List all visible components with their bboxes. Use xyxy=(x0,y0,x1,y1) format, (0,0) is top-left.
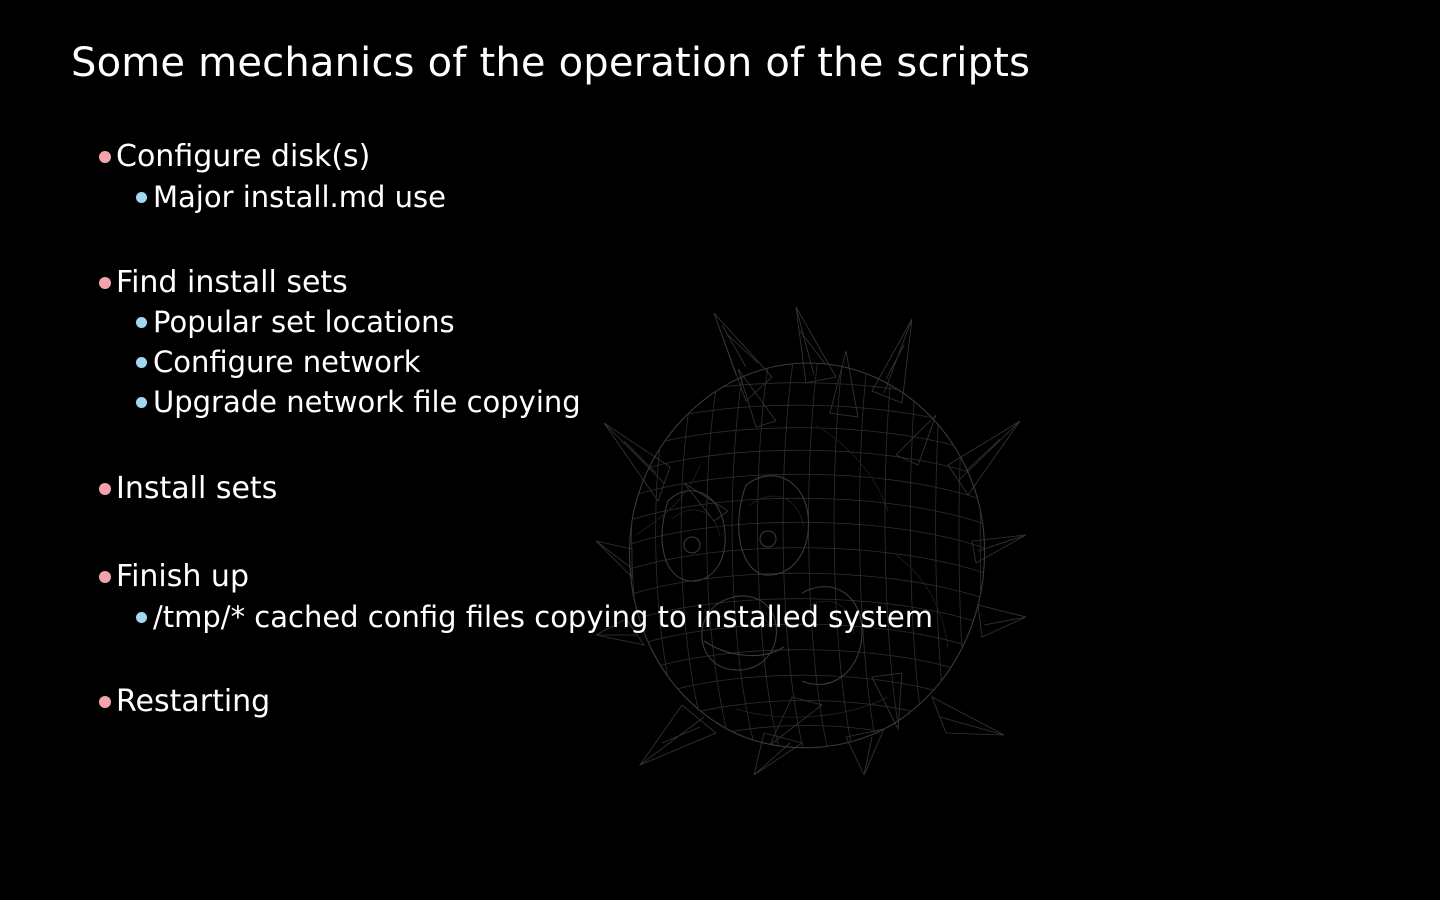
bullet-dot-level-2-icon xyxy=(136,612,147,623)
list-item: Install sets xyxy=(99,472,277,506)
presentation-slide: Some mechanics of the operation of the s… xyxy=(0,0,1440,900)
bullet-dot-level-1-icon xyxy=(99,696,111,708)
list-item-label: Configure disk(s) xyxy=(116,140,370,174)
list-item-label: Configure network xyxy=(153,346,421,379)
list-item: Popular set locations xyxy=(136,306,455,339)
list-item-label: Upgrade network file copying xyxy=(153,386,581,419)
bullet-dot-level-2-icon xyxy=(136,317,147,328)
bullet-dot-level-2-icon xyxy=(136,397,147,408)
list-item-label: Major install.md use xyxy=(153,181,446,214)
list-item: Configure network xyxy=(136,346,421,379)
list-item: Major install.md use xyxy=(136,181,446,214)
list-item: Configure disk(s) xyxy=(99,140,370,174)
list-item-label: Install sets xyxy=(116,472,277,506)
list-item-label: Find install sets xyxy=(116,266,348,300)
list-item-label: Finish up xyxy=(116,560,249,594)
list-item: Finish up xyxy=(99,560,249,594)
bullet-dot-level-1-icon xyxy=(99,571,111,583)
list-item: Restarting xyxy=(99,685,270,719)
list-item-label: Popular set locations xyxy=(153,306,455,339)
list-item: Find install sets xyxy=(99,266,348,300)
bullet-dot-level-1-icon xyxy=(99,483,111,495)
bullet-dot-level-2-icon xyxy=(136,357,147,368)
list-item: Upgrade network file copying xyxy=(136,386,581,419)
bullet-dot-level-2-icon xyxy=(136,192,147,203)
list-item: /tmp/* cached config files copying to in… xyxy=(136,601,933,634)
list-item-label: /tmp/* cached config files copying to in… xyxy=(153,601,933,634)
bullet-dot-level-1-icon xyxy=(99,277,111,289)
bullet-list: Configure disk(s) Major install.md use F… xyxy=(0,0,1440,900)
bullet-dot-level-1-icon xyxy=(99,151,111,163)
list-item-label: Restarting xyxy=(116,685,270,719)
